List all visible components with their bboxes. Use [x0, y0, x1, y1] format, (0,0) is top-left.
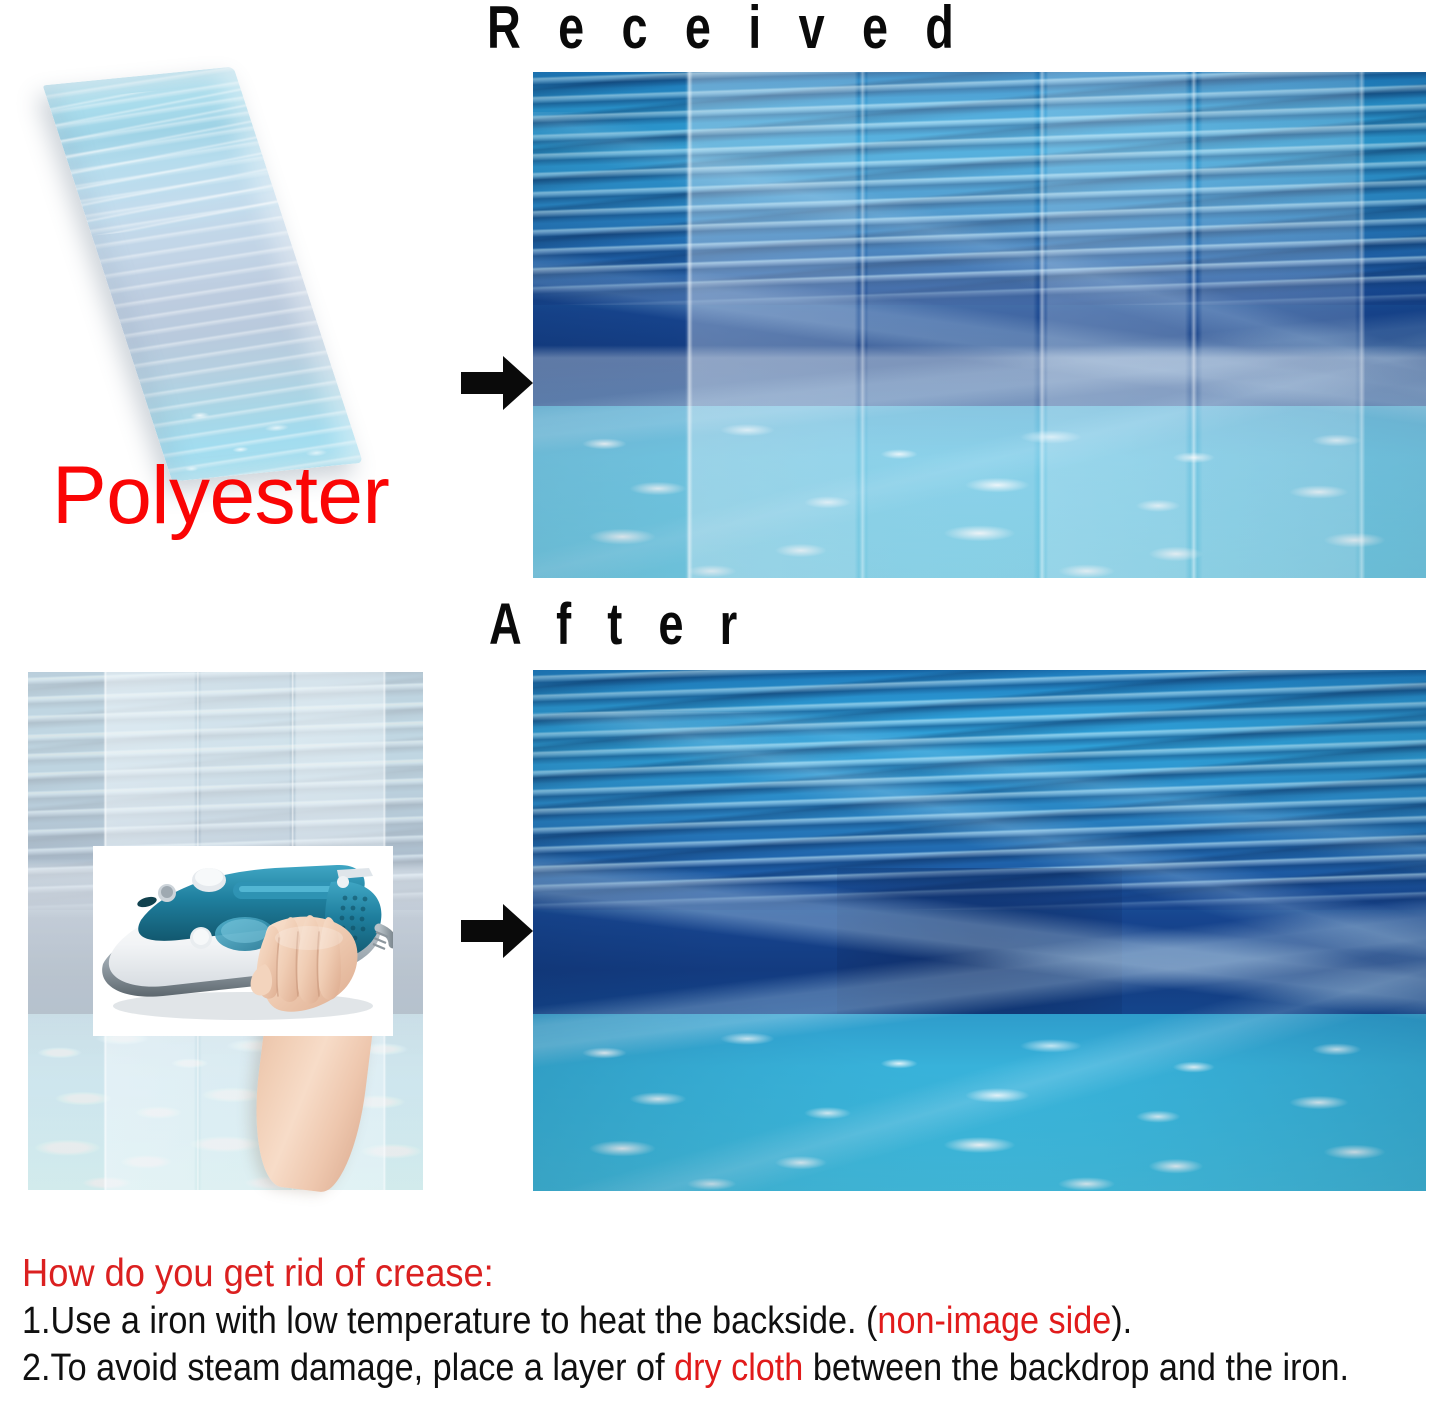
water-surface-layer — [533, 72, 1426, 305]
seafloor-caustics-layer — [533, 1014, 1426, 1191]
polyester-swatch-container — [0, 70, 430, 500]
polyester-fabric-swatch — [43, 67, 363, 482]
polyester-material-label: Polyester — [52, 452, 389, 540]
instruction-line-1-red: non-image side — [877, 1300, 1111, 1342]
received-section-title: R e c e i v e d — [487, 0, 966, 58]
instructions-heading: How do you get rid of crease: — [22, 1250, 1324, 1298]
instruction-line-1: 1.Use a iron with low temperature to hea… — [22, 1298, 1282, 1345]
received-backdrop-photo — [533, 72, 1426, 578]
after-section-title: A f t e r — [489, 596, 749, 654]
arrow-right-icon — [459, 900, 535, 962]
instruction-line-2-red: dry cloth — [674, 1347, 803, 1389]
instruction-line-1-black-end: ). — [1111, 1300, 1132, 1342]
seafloor-caustics-layer — [533, 406, 1426, 578]
arrow-right-icon — [459, 352, 535, 414]
instruction-line-2-black-start: 2.To avoid steam damage, place a layer o… — [22, 1347, 674, 1389]
instruction-line-2-black-end: between the backdrop and the iron. — [803, 1347, 1349, 1389]
after-backdrop-photo — [533, 670, 1426, 1191]
instruction-line-1-black-start: 1.Use a iron with low temperature to hea… — [22, 1300, 877, 1342]
steam-iron-with-hand — [93, 846, 393, 1036]
care-instructions-block: How do you get rid of crease: 1.Use a ir… — [22, 1250, 1422, 1392]
instruction-line-2: 2.To avoid steam damage, place a layer o… — [22, 1345, 1282, 1392]
